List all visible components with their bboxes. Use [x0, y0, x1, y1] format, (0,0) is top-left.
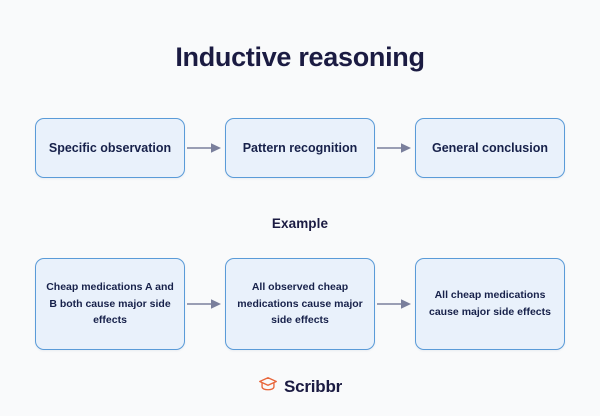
- flow-node-general-conclusion: General conclusion: [415, 118, 565, 178]
- arrow-right-icon: [185, 294, 225, 314]
- example-section-label: Example: [0, 216, 600, 231]
- example-node-label: All cheap medications cause major side e…: [425, 287, 555, 321]
- flow-node-specific-observation: Specific observation: [35, 118, 185, 178]
- flow-node-label: General conclusion: [432, 139, 548, 157]
- example-node-observation: Cheap medications A and B both cause maj…: [35, 258, 185, 350]
- flow-node-label: Pattern recognition: [243, 139, 358, 157]
- flow-node-label: Specific observation: [49, 139, 171, 157]
- arrow-right-icon: [185, 138, 225, 158]
- primary-flow-row: Specific observation Pattern recognition…: [0, 118, 600, 178]
- brand-name: Scribbr: [284, 377, 342, 397]
- arrow-right-icon: [375, 138, 415, 158]
- graduation-cap-icon: [258, 375, 278, 398]
- arrow-right-icon: [375, 294, 415, 314]
- example-node-label: All observed cheap medications cause maj…: [235, 279, 365, 329]
- inductive-reasoning-infographic: Inductive reasoning Specific observation…: [0, 0, 600, 416]
- flow-node-pattern-recognition: Pattern recognition: [225, 118, 375, 178]
- brand-logo: Scribbr: [0, 375, 600, 398]
- page-title: Inductive reasoning: [0, 42, 600, 73]
- example-node-pattern: All observed cheap medications cause maj…: [225, 258, 375, 350]
- example-node-conclusion: All cheap medications cause major side e…: [415, 258, 565, 350]
- example-flow-row: Cheap medications A and B both cause maj…: [0, 258, 600, 350]
- example-node-label: Cheap medications A and B both cause maj…: [45, 279, 175, 329]
